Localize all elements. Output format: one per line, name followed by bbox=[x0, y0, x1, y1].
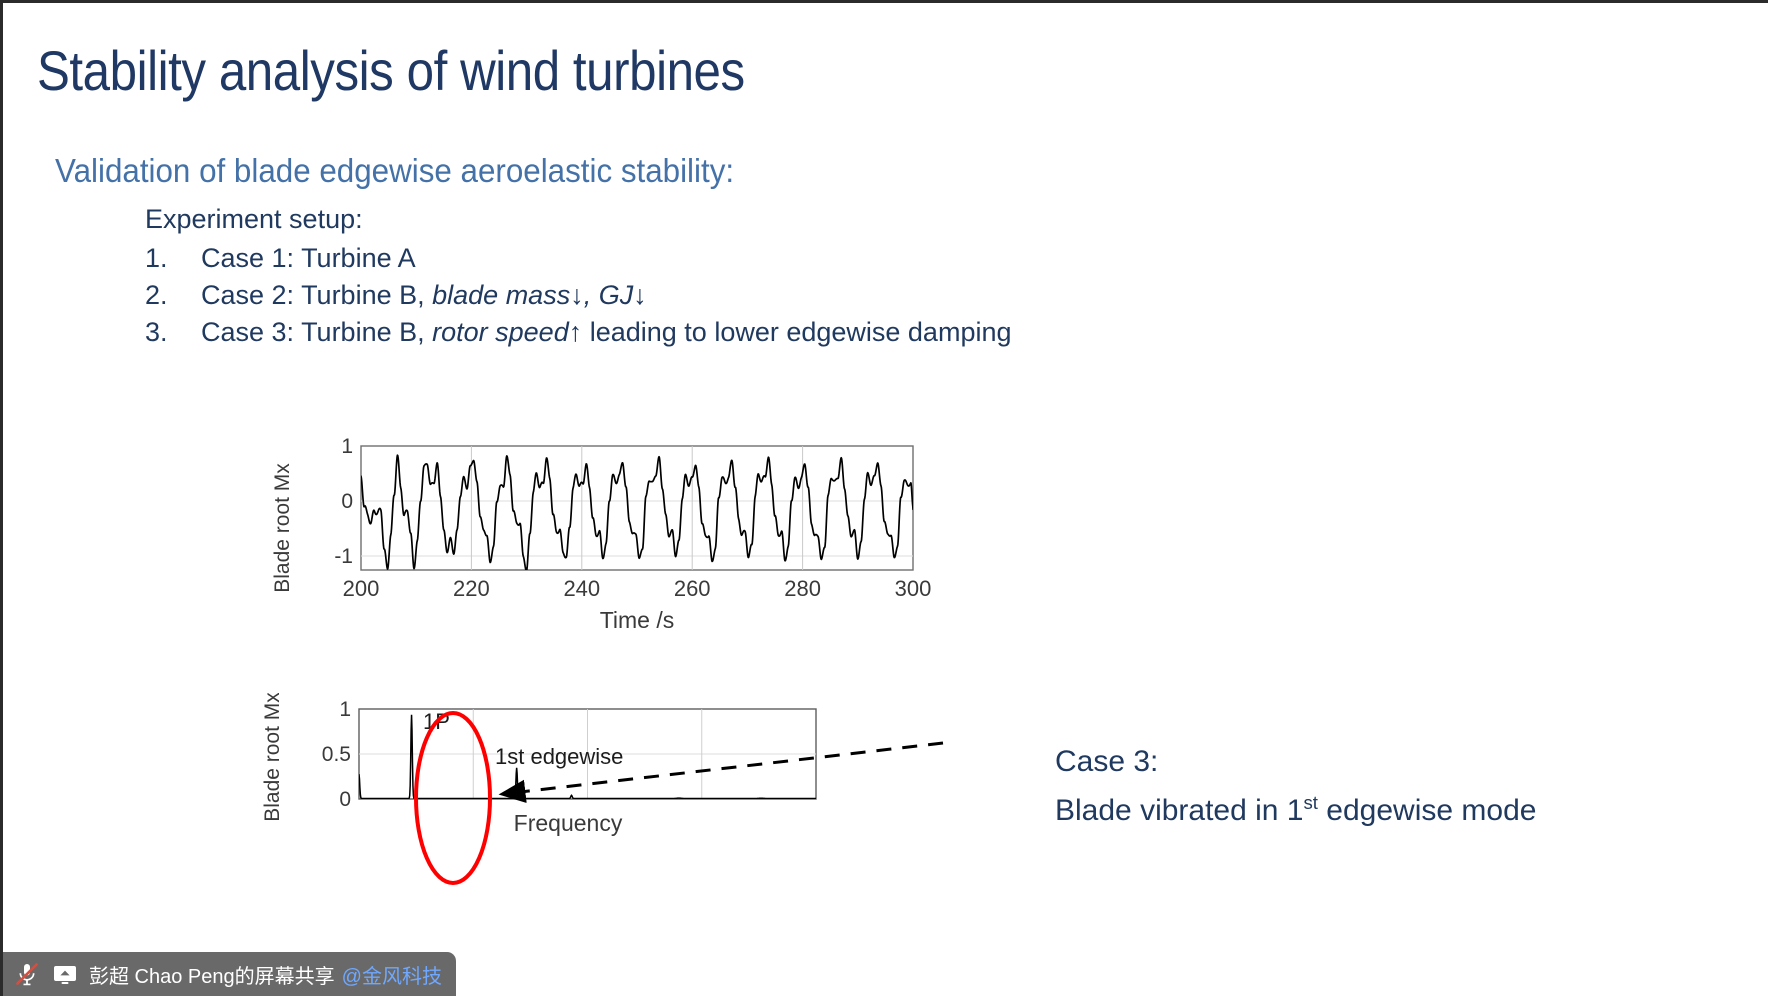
list-item-number: 2. bbox=[145, 277, 201, 314]
y-tick-label: 1 bbox=[339, 698, 351, 721]
y-tick-label: 0.5 bbox=[322, 743, 351, 766]
x-tick-label: 240 bbox=[563, 576, 600, 601]
slide-subtitle: Validation of blade edgewise aeroelastic… bbox=[55, 151, 734, 191]
y-tick-label: -1 bbox=[334, 545, 353, 568]
list-item-post: leading to lower edgewise damping bbox=[582, 317, 1011, 347]
callout-line-2: Blade vibrated in 1st edgewise mode bbox=[1055, 782, 1536, 831]
spectrum-chart: Blade root Mx 1 0.5 0 1P 1st edgewise Fr… bbox=[255, 693, 1015, 933]
list-item-pre: Case 1: Turbine A bbox=[201, 243, 416, 273]
list-item-emphasis: rotor speed↑ bbox=[432, 317, 582, 347]
y-tick-label: 0 bbox=[341, 490, 353, 513]
y-axis-label: Blade root Mx bbox=[261, 693, 284, 822]
callout-line-2-post: edgewise mode bbox=[1318, 794, 1536, 827]
list-item-number: 3. bbox=[145, 314, 201, 351]
x-tick-label: 280 bbox=[784, 576, 821, 601]
page-title: Stability analysis of wind turbines bbox=[37, 39, 745, 103]
peak-label-first-edgewise: 1st edgewise bbox=[495, 744, 623, 769]
y-axis-label: Blade root Mx bbox=[271, 463, 294, 593]
list-item-text: Case 3: Turbine B, rotor speed↑ leading … bbox=[201, 314, 1012, 351]
x-axis-label: Frequency bbox=[514, 810, 623, 836]
x-axis-label: Time /s bbox=[600, 607, 675, 633]
microphone-muted-icon[interactable] bbox=[13, 960, 41, 988]
callout-ordinal-suffix: st bbox=[1304, 792, 1318, 813]
callout-text: Case 3: Blade vibrated in 1st edgewise m… bbox=[1055, 741, 1536, 831]
callout-line-2-pre: Blade vibrated in 1 bbox=[1055, 794, 1304, 827]
x-tick-label: 260 bbox=[674, 576, 711, 601]
x-tick-label: 200 bbox=[343, 576, 380, 601]
time-series-chart: Blade root Mx 1 0 -1 200 220 240 260 280… bbox=[271, 428, 931, 678]
list-item-emphasis: blade mass↓, GJ↓ bbox=[432, 280, 647, 310]
body-content: Experiment setup: 1. Case 1: Turbine A 2… bbox=[145, 201, 1012, 351]
screen-share-icon[interactable] bbox=[51, 960, 79, 988]
callout-line-1: Case 3: bbox=[1055, 741, 1536, 782]
share-org-label: @金风科技 bbox=[342, 960, 442, 989]
share-owner-label: 彭超 Chao Peng的屏幕共享 bbox=[89, 960, 335, 989]
presentation-slide: Stability analysis of wind turbines Vali… bbox=[0, 0, 1768, 996]
y-tick-label: 1 bbox=[341, 435, 353, 458]
plot-area bbox=[361, 446, 913, 570]
list-item-pre: Case 3: Turbine B, bbox=[201, 317, 432, 347]
y-tick-label: 0 bbox=[339, 788, 351, 811]
body-heading: Experiment setup: bbox=[145, 201, 1012, 238]
list-item: 2. Case 2: Turbine B, blade mass↓, GJ↓ bbox=[145, 277, 1012, 314]
list-item-text: Case 1: Turbine A bbox=[201, 240, 1012, 277]
list-item: 3. Case 3: Turbine B, rotor speed↑ leadi… bbox=[145, 314, 1012, 351]
screen-share-bar[interactable]: 彭超 Chao Peng的屏幕共享 @金风科技 bbox=[3, 952, 456, 996]
x-tick-label: 300 bbox=[895, 576, 931, 601]
list-item-number: 1. bbox=[145, 240, 201, 277]
list-item: 1. Case 1: Turbine A bbox=[145, 240, 1012, 277]
list-item-text: Case 2: Turbine B, blade mass↓, GJ↓ bbox=[201, 277, 1012, 314]
list-item-pre: Case 2: Turbine B, bbox=[201, 280, 432, 310]
x-tick-label: 220 bbox=[453, 576, 490, 601]
